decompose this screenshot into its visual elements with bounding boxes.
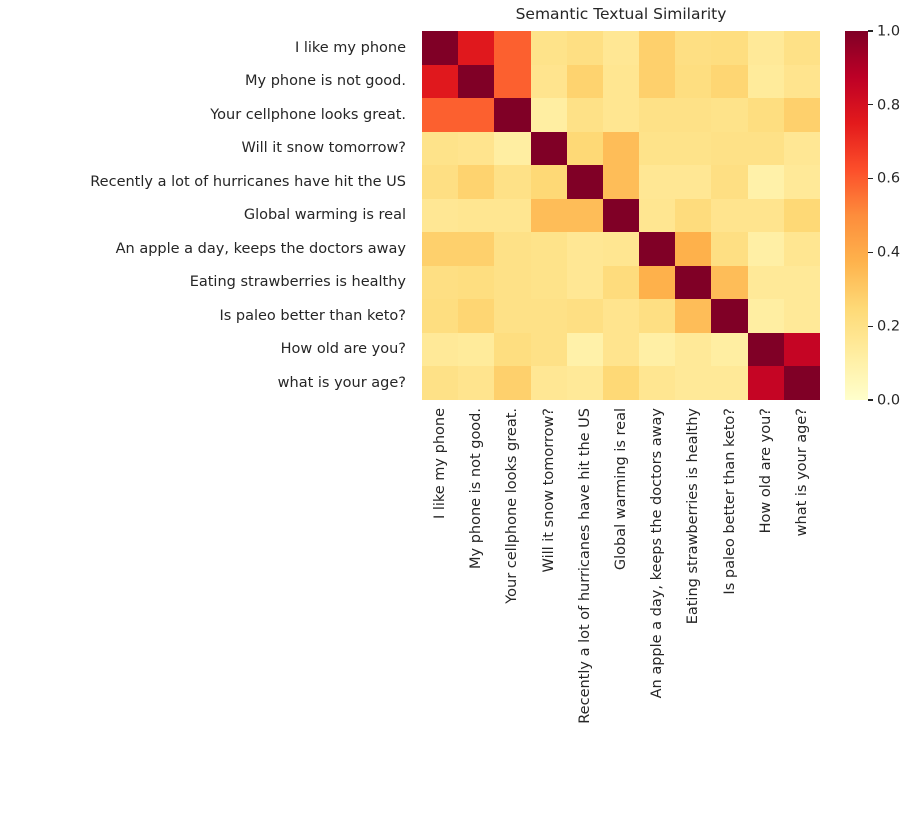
x-tick-label: what is your age?: [795, 408, 810, 536]
heatmap-cell: [567, 199, 603, 233]
colorbar: [845, 31, 868, 400]
heatmap-cell: [458, 165, 494, 199]
x-tick-label: I like my phone: [433, 408, 448, 519]
colorbar-tick-mark-icon: [868, 178, 873, 179]
heatmap-grid: [422, 31, 820, 400]
x-tick-slot: An apple a day, keeps the doctors away: [639, 400, 675, 820]
heatmap-cell: [494, 98, 530, 132]
x-tick-slot: My phone is not good.: [458, 400, 494, 820]
heatmap-cell: [711, 165, 747, 199]
heatmap-cell: [494, 65, 530, 99]
heatmap-cell: [784, 98, 820, 132]
heatmap-cell: [567, 266, 603, 300]
heatmap-cell: [748, 98, 784, 132]
heatmap-cell: [531, 232, 567, 266]
heatmap-cell: [603, 266, 639, 300]
heatmap-cell: [458, 266, 494, 300]
heatmap-cell: [748, 165, 784, 199]
heatmap-cell: [784, 65, 820, 99]
heatmap-cell: [567, 65, 603, 99]
x-tick-label: My phone is not good.: [469, 408, 484, 569]
heatmap-cell: [748, 299, 784, 333]
heatmap-cell: [784, 31, 820, 65]
heatmap-cell: [748, 65, 784, 99]
x-tick-slot: How old are you?: [748, 400, 784, 820]
heatmap-cell: [458, 98, 494, 132]
heatmap-cell: [494, 299, 530, 333]
heatmap-cell: [422, 232, 458, 266]
heatmap-cell: [748, 232, 784, 266]
colorbar-tick-label: 0.8: [877, 98, 900, 113]
heatmap-cell: [422, 31, 458, 65]
heatmap-cell: [531, 333, 567, 367]
colorbar-tick-mark-icon: [868, 104, 873, 105]
heatmap-cell: [494, 199, 530, 233]
y-tick-label: what is your age?: [0, 366, 414, 400]
heatmap-cell: [711, 132, 747, 166]
heatmap-cell: [422, 366, 458, 400]
heatmap-cell: [531, 266, 567, 300]
heatmap-cell: [748, 333, 784, 367]
heatmap-cell: [603, 165, 639, 199]
heatmap-cell: [603, 199, 639, 233]
heatmap-cell: [603, 65, 639, 99]
heatmap-cell: [603, 232, 639, 266]
y-tick-label: Recently a lot of hurricanes have hit th…: [0, 165, 414, 199]
heatmap-cell: [603, 299, 639, 333]
x-tick-label: An apple a day, keeps the doctors away: [650, 408, 665, 698]
x-tick-label: How old are you?: [758, 408, 773, 533]
heatmap-cell: [675, 98, 711, 132]
heatmap-cell: [711, 266, 747, 300]
heatmap-cell: [639, 366, 675, 400]
heatmap-cell: [422, 333, 458, 367]
heatmap-cell: [458, 333, 494, 367]
y-tick-label: I like my phone: [0, 31, 414, 65]
x-tick-slot: Your cellphone looks great.: [494, 400, 530, 820]
heatmap-cell: [639, 98, 675, 132]
heatmap-cell: [603, 333, 639, 367]
heatmap-cell: [711, 232, 747, 266]
heatmap-cell: [458, 232, 494, 266]
heatmap-cell: [784, 232, 820, 266]
x-tick-label: Global warming is real: [614, 408, 629, 570]
heatmap-cell: [458, 31, 494, 65]
heatmap-cell: [567, 98, 603, 132]
heatmap-cell: [531, 199, 567, 233]
heatmap-cell: [494, 31, 530, 65]
heatmap-cell: [711, 31, 747, 65]
page-title: Semantic Textual Similarity: [422, 5, 820, 23]
heatmap-cell: [639, 266, 675, 300]
heatmap-cell: [784, 299, 820, 333]
y-tick-label: Global warming is real: [0, 199, 414, 233]
heatmap-cell: [711, 65, 747, 99]
heatmap-cell: [531, 31, 567, 65]
heatmap-cell: [531, 165, 567, 199]
heatmap-cell: [675, 199, 711, 233]
heatmap-cell: [711, 366, 747, 400]
heatmap-cell: [603, 98, 639, 132]
heatmap-cell: [422, 299, 458, 333]
heatmap-cell: [675, 232, 711, 266]
heatmap-cell: [748, 366, 784, 400]
colorbar-gradient: [845, 31, 868, 400]
y-axis-tick-labels: I like my phoneMy phone is not good.Your…: [0, 31, 414, 400]
heatmap-cell: [675, 31, 711, 65]
heatmap-cell: [458, 366, 494, 400]
heatmap-cell: [422, 98, 458, 132]
heatmap-cell: [494, 232, 530, 266]
colorbar-tick-label: 0.6: [877, 172, 900, 187]
heatmap-cell: [458, 199, 494, 233]
heatmap-cell: [494, 132, 530, 166]
heatmap-cell: [675, 165, 711, 199]
y-tick-label: Will it snow tomorrow?: [0, 132, 414, 166]
colorbar-tick-mark-icon: [868, 399, 873, 400]
heatmap-cell: [748, 199, 784, 233]
heatmap-cell: [422, 132, 458, 166]
heatmap-cell: [675, 299, 711, 333]
heatmap-cell: [711, 98, 747, 132]
heatmap-cell: [603, 132, 639, 166]
heatmap-cell: [494, 333, 530, 367]
y-tick-label: Is paleo better than keto?: [0, 299, 414, 333]
colorbar-tick-mark-icon: [868, 326, 873, 327]
heatmap-cell: [639, 199, 675, 233]
x-tick-label: Recently a lot of hurricanes have hit th…: [578, 408, 593, 724]
heatmap-cell: [422, 199, 458, 233]
heatmap-cell: [639, 65, 675, 99]
heatmap-cell: [639, 299, 675, 333]
y-tick-label: My phone is not good.: [0, 65, 414, 99]
colorbar-tick-mark-icon: [868, 252, 873, 253]
colorbar-tick-label: 0.4: [877, 246, 900, 261]
heatmap-cell: [567, 333, 603, 367]
y-tick-label: How old are you?: [0, 333, 414, 367]
heatmap-cell: [675, 266, 711, 300]
heatmap-cell: [675, 132, 711, 166]
heatmap-cell: [458, 132, 494, 166]
colorbar-tick-mark-icon: [868, 30, 873, 31]
heatmap-cell: [675, 366, 711, 400]
heatmap-cell: [531, 65, 567, 99]
colorbar-tick-labels: 0.00.20.40.60.81.0: [868, 31, 915, 400]
x-tick-slot: what is your age?: [784, 400, 820, 820]
x-tick-label: Eating strawberries is healthy: [686, 408, 701, 624]
x-tick-label: Your cellphone looks great.: [505, 408, 520, 604]
heatmap-cell: [748, 132, 784, 166]
heatmap-cell: [784, 132, 820, 166]
heatmap-cell: [711, 199, 747, 233]
heatmap-cell: [567, 299, 603, 333]
heatmap-cell: [531, 366, 567, 400]
heatmap-cell: [784, 199, 820, 233]
heatmap-cell: [531, 98, 567, 132]
x-axis-tick-labels: I like my phoneMy phone is not good.Your…: [422, 400, 820, 820]
x-tick-slot: Will it snow tomorrow?: [531, 400, 567, 820]
heatmap-cell: [458, 65, 494, 99]
heatmap-cell: [748, 266, 784, 300]
heatmap-cell: [639, 232, 675, 266]
x-tick-slot: Global warming is real: [603, 400, 639, 820]
heatmap-cell: [784, 266, 820, 300]
heatmap-cell: [603, 31, 639, 65]
heatmap-cell: [603, 366, 639, 400]
y-tick-label: Eating strawberries is healthy: [0, 266, 414, 300]
x-tick-label: Will it snow tomorrow?: [541, 408, 556, 572]
heatmap-cell: [784, 366, 820, 400]
heatmap-cell: [639, 31, 675, 65]
heatmap-cell: [784, 165, 820, 199]
heatmap-cell: [458, 299, 494, 333]
colorbar-tick-label: 0.0: [877, 393, 900, 408]
heatmap-cell: [711, 299, 747, 333]
y-tick-label: An apple a day, keeps the doctors away: [0, 232, 414, 266]
heatmap-cell: [675, 65, 711, 99]
heatmap-cell: [639, 333, 675, 367]
heatmap-cell: [422, 266, 458, 300]
colorbar-tick-label: 1.0: [877, 24, 900, 39]
heatmap-cell: [422, 65, 458, 99]
semantic-similarity-heatmap-figure: Semantic Textual Similarity I like my ph…: [0, 0, 915, 826]
x-tick-label: Is paleo better than keto?: [722, 408, 737, 595]
heatmap-cell: [531, 299, 567, 333]
x-tick-slot: Recently a lot of hurricanes have hit th…: [567, 400, 603, 820]
x-tick-slot: I like my phone: [422, 400, 458, 820]
heatmap-cell: [567, 232, 603, 266]
heatmap-cell: [567, 31, 603, 65]
heatmap-cell: [748, 31, 784, 65]
heatmap-cell: [567, 366, 603, 400]
x-tick-slot: Is paleo better than keto?: [711, 400, 747, 820]
y-tick-label: Your cellphone looks great.: [0, 98, 414, 132]
heatmap-cell: [639, 132, 675, 166]
heatmap-cell: [422, 165, 458, 199]
heatmap-cell: [494, 366, 530, 400]
heatmap-cell: [494, 266, 530, 300]
heatmap-cell: [567, 165, 603, 199]
heatmap-cell: [494, 165, 530, 199]
heatmap-cell: [639, 165, 675, 199]
heatmap-cell: [675, 333, 711, 367]
heatmap-cell: [531, 132, 567, 166]
heatmap-cell: [567, 132, 603, 166]
x-tick-slot: Eating strawberries is healthy: [675, 400, 711, 820]
heatmap-cell: [711, 333, 747, 367]
colorbar-tick-label: 0.2: [877, 319, 900, 334]
heatmap-cell: [784, 333, 820, 367]
